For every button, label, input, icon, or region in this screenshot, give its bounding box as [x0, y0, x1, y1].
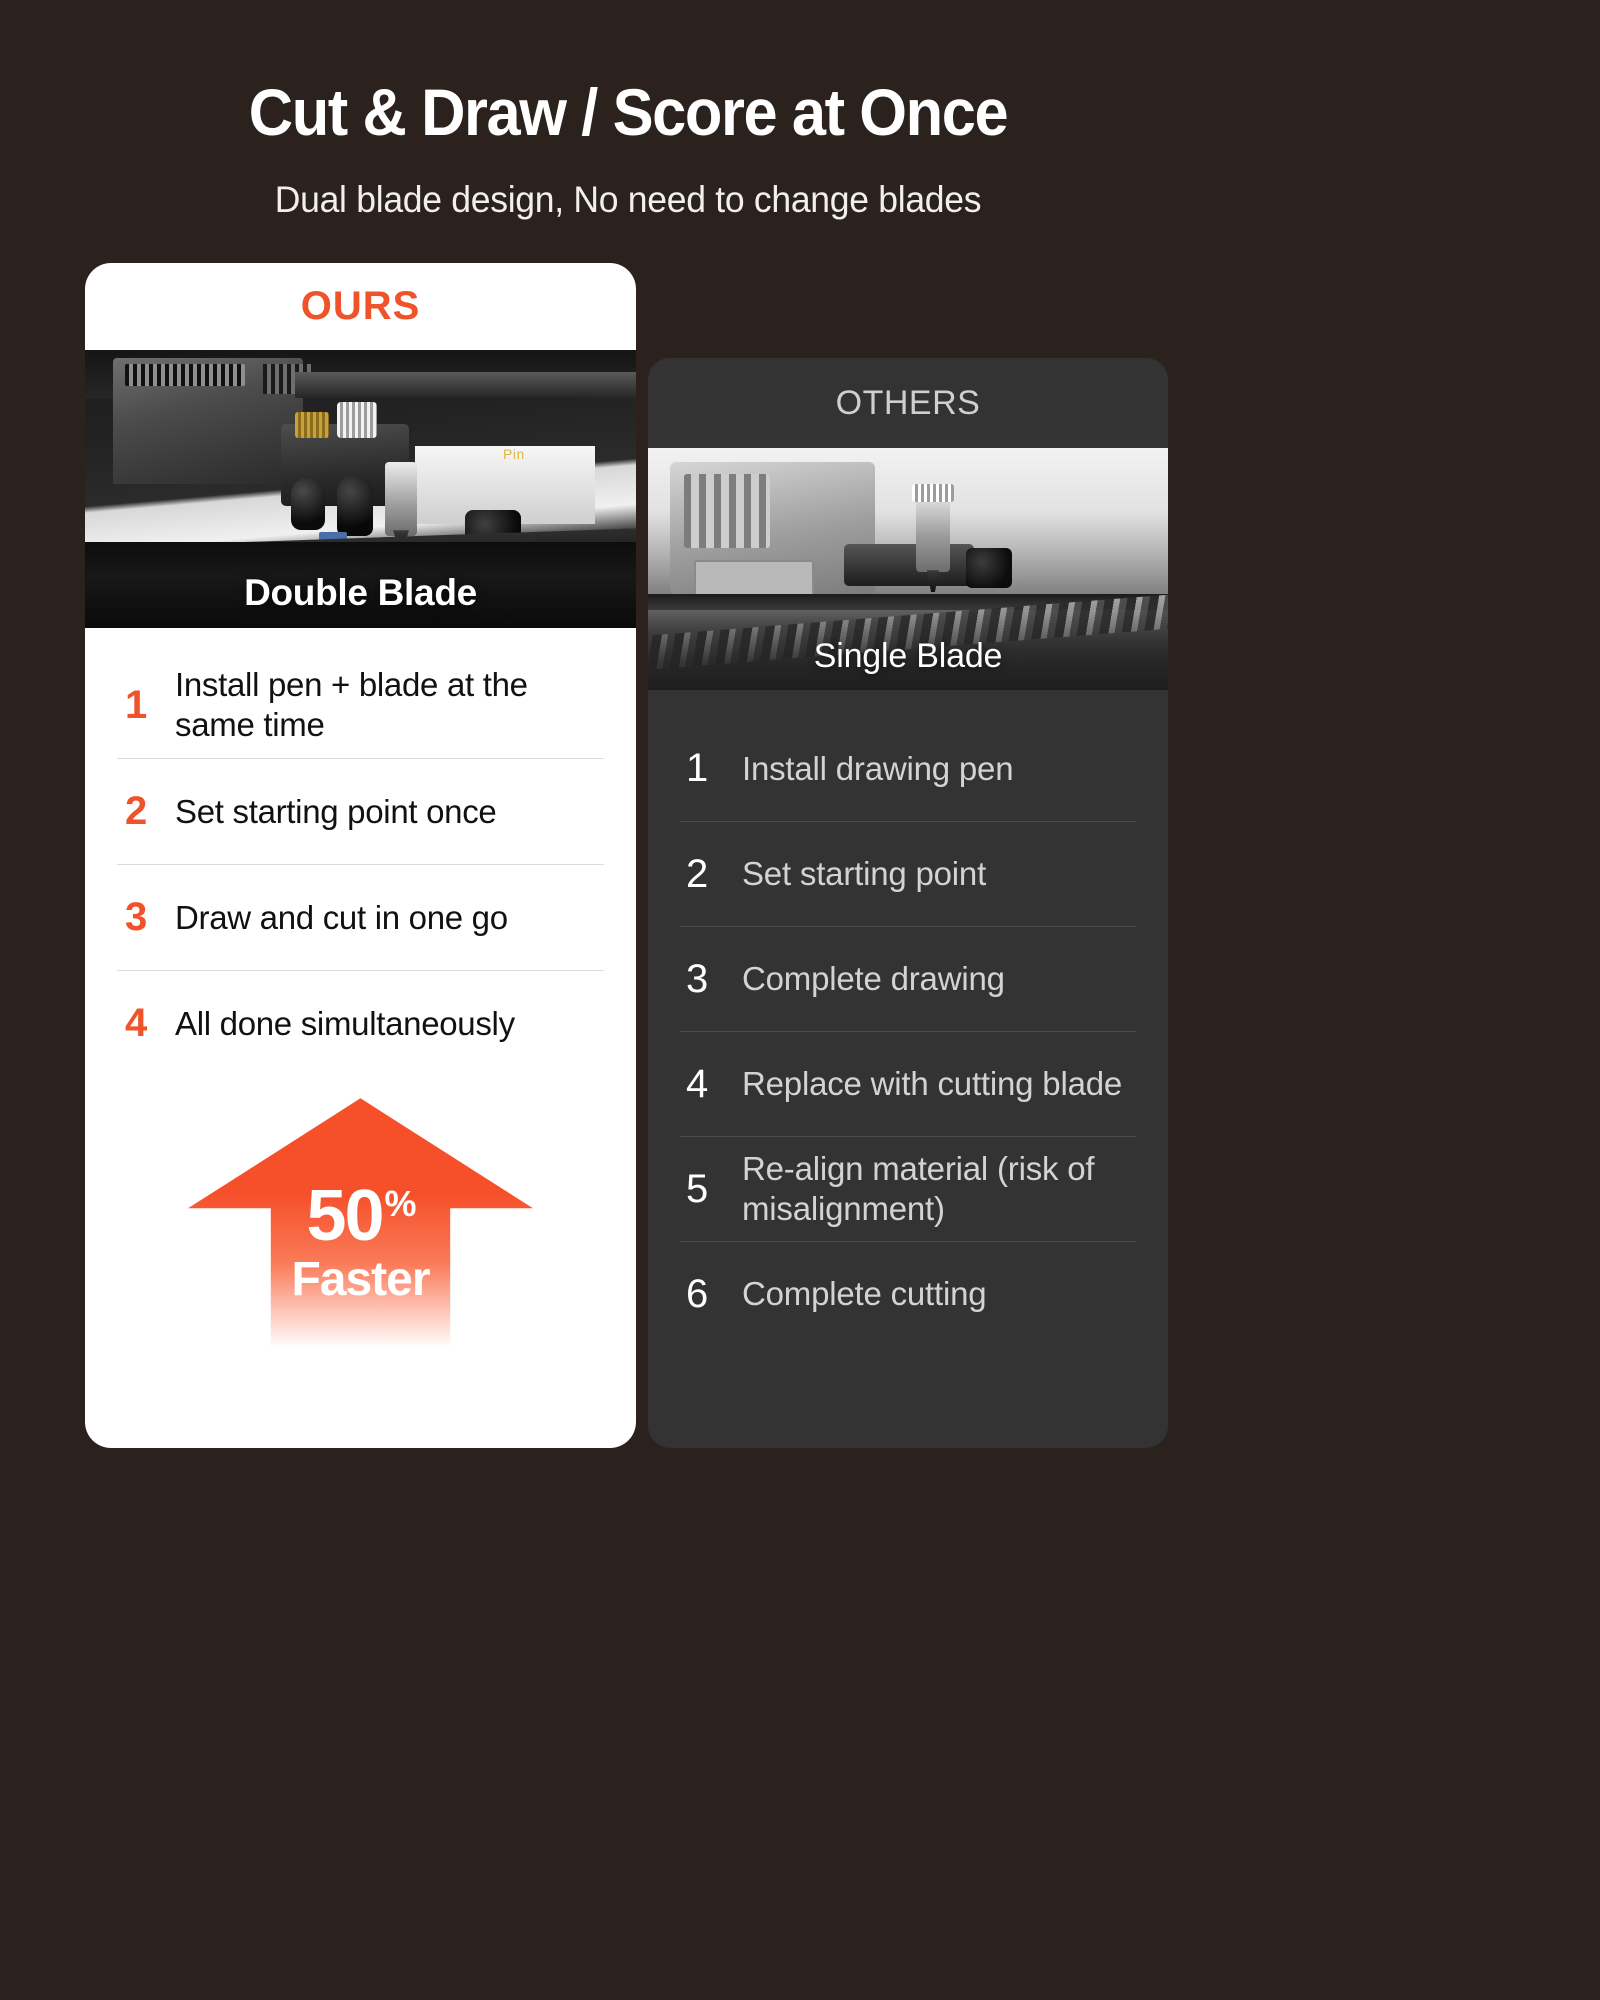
comparison-area: OTHERS Single Blade 1 Install drawing pe…: [0, 263, 1256, 1493]
machine-vent: [684, 474, 770, 548]
step-text: Complete drawing: [742, 959, 1005, 999]
pen-holder-two: [337, 476, 373, 536]
step-number: 2: [117, 789, 175, 834]
step-text: Install drawing pen: [742, 749, 1013, 789]
step-text: Set starting point: [742, 854, 986, 894]
ours-photo-caption: Double Blade: [85, 572, 636, 614]
step-number: 4: [117, 1001, 175, 1046]
step-number: 2: [680, 852, 742, 897]
others-step-row: 2 Set starting point: [680, 821, 1136, 926]
others-step-list: 1 Install drawing pen 2 Set starting poi…: [648, 690, 1168, 1346]
faster-badge: 50% Faster: [188, 1098, 533, 1348]
step-number: 3: [117, 895, 175, 940]
step-text: Complete cutting: [742, 1274, 986, 1314]
step-text: Set starting point once: [175, 792, 496, 832]
others-badge-label: OTHERS: [836, 384, 981, 423]
faster-value: 50: [306, 1176, 382, 1256]
step-text: Draw and cut in one go: [175, 898, 508, 938]
pinch-roller-label: Pin: [503, 446, 525, 462]
ours-product-photo: Pin Double Blade: [85, 350, 636, 628]
ours-step-row: 2 Set starting point once: [117, 758, 604, 864]
faster-label: Faster: [188, 1256, 533, 1304]
holder-knob: [912, 484, 954, 502]
others-card-header: OTHERS: [648, 358, 1168, 448]
ours-card-header: OURS: [85, 263, 636, 350]
step-number: 1: [680, 746, 742, 791]
ours-badge-label: OURS: [301, 284, 421, 329]
ours-step-list: 1 Install pen + blade at the same time 2…: [85, 628, 636, 1076]
faster-badge-text: 50% Faster: [188, 1180, 533, 1304]
machine-rail: [295, 372, 636, 398]
others-photo-caption: Single Blade: [648, 637, 1168, 676]
step-number: 5: [680, 1167, 742, 1212]
step-text: Install pen + blade at the same time: [175, 665, 604, 746]
others-step-row: 6 Complete cutting: [680, 1241, 1136, 1346]
carriage-vent: [125, 364, 245, 386]
others-step-row: 3 Complete drawing: [680, 926, 1136, 1031]
step-number: 3: [680, 957, 742, 1002]
single-blade-holder: [916, 494, 950, 572]
others-step-row: 1 Install drawing pen: [680, 716, 1136, 821]
step-text: Replace with cutting blade: [742, 1064, 1122, 1104]
ours-step-row: 1 Install pen + blade at the same time: [117, 652, 604, 758]
silver-knob: [337, 402, 377, 438]
pinch-roller: [966, 548, 1012, 588]
others-step-row: 4 Replace with cutting blade: [680, 1031, 1136, 1136]
others-product-photo: Single Blade: [648, 448, 1168, 690]
page-subtitle: Dual blade design, No need to change bla…: [25, 179, 1231, 221]
others-card: OTHERS Single Blade 1 Install drawing pe…: [648, 358, 1168, 1448]
step-text: All done simultaneously: [175, 1004, 515, 1044]
percent-symbol: %: [385, 1183, 417, 1224]
step-number: 4: [680, 1062, 742, 1107]
ours-card: OURS Pin Double Blade 1: [85, 263, 636, 1448]
step-number: 6: [680, 1272, 742, 1317]
ours-step-row: 4 All done simultaneously: [117, 970, 604, 1076]
others-step-row: 5 Re-align material (risk of misalignmen…: [680, 1136, 1136, 1241]
blade-holder: [385, 462, 417, 536]
pen-holder-one: [291, 478, 325, 530]
ours-step-row: 3 Draw and cut in one go: [117, 864, 604, 970]
header-block: Cut & Draw / Score at Once Dual blade de…: [0, 0, 1256, 221]
gold-knob: [295, 412, 329, 438]
step-text: Re-align material (risk of misalignment): [742, 1149, 1136, 1230]
machine-arm: [844, 544, 974, 586]
step-number: 1: [117, 683, 175, 728]
page-title: Cut & Draw / Score at Once: [44, 78, 1212, 147]
